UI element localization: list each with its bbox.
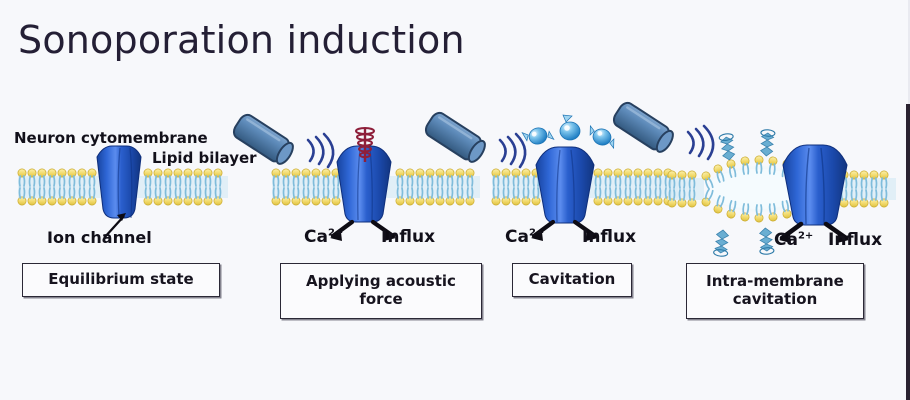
microbubble [586,126,617,148]
microbubble [522,124,554,148]
caption-box-intra-membrane-cavitation[interactable]: Intra-membrane cavitation [686,263,864,319]
displaced-lipid-blob [713,229,730,257]
label-calcium-3: Ca2+ [505,227,544,247]
soundwaves-3 [500,134,525,167]
displaced-lipid-blob [758,228,774,255]
caption-box-applying-acoustic-force[interactable]: Applying acoustic force [280,263,482,319]
label-lipid-bilayer: Lipid bilayer [152,149,257,167]
displaced-lipid-blob [719,133,737,161]
label-calcium-4: Ca2+ [774,230,813,250]
label-neuron-cytomembrane: Neuron cytomembrane [14,129,208,147]
ion-channel-3 [536,147,594,223]
microbubble [560,115,580,140]
caption-box-cavitation[interactable]: Cavitation [512,263,632,297]
soundwaves-4 [688,126,713,159]
caption-box-equilibrium[interactable]: Equilibrium state [22,263,220,297]
slide-canvas: Sonoporation induction [0,0,910,400]
diagram-artwork [0,0,910,400]
ion-channel-1 [97,146,141,218]
soundwaves-2 [308,134,333,167]
displaced-lipid-blob [759,129,775,156]
label-calcium-2: Ca2+ [304,227,343,247]
label-ion-channel: Ion channel [47,228,152,247]
label-influx-2: Influx [381,227,435,247]
label-influx-3: Influx [582,227,636,247]
ultrasound-transducer-3[interactable] [423,110,489,165]
ultrasound-transducer-4[interactable] [611,100,677,155]
label-influx-4: Influx [828,230,882,250]
ion-channel-4 [783,145,847,225]
